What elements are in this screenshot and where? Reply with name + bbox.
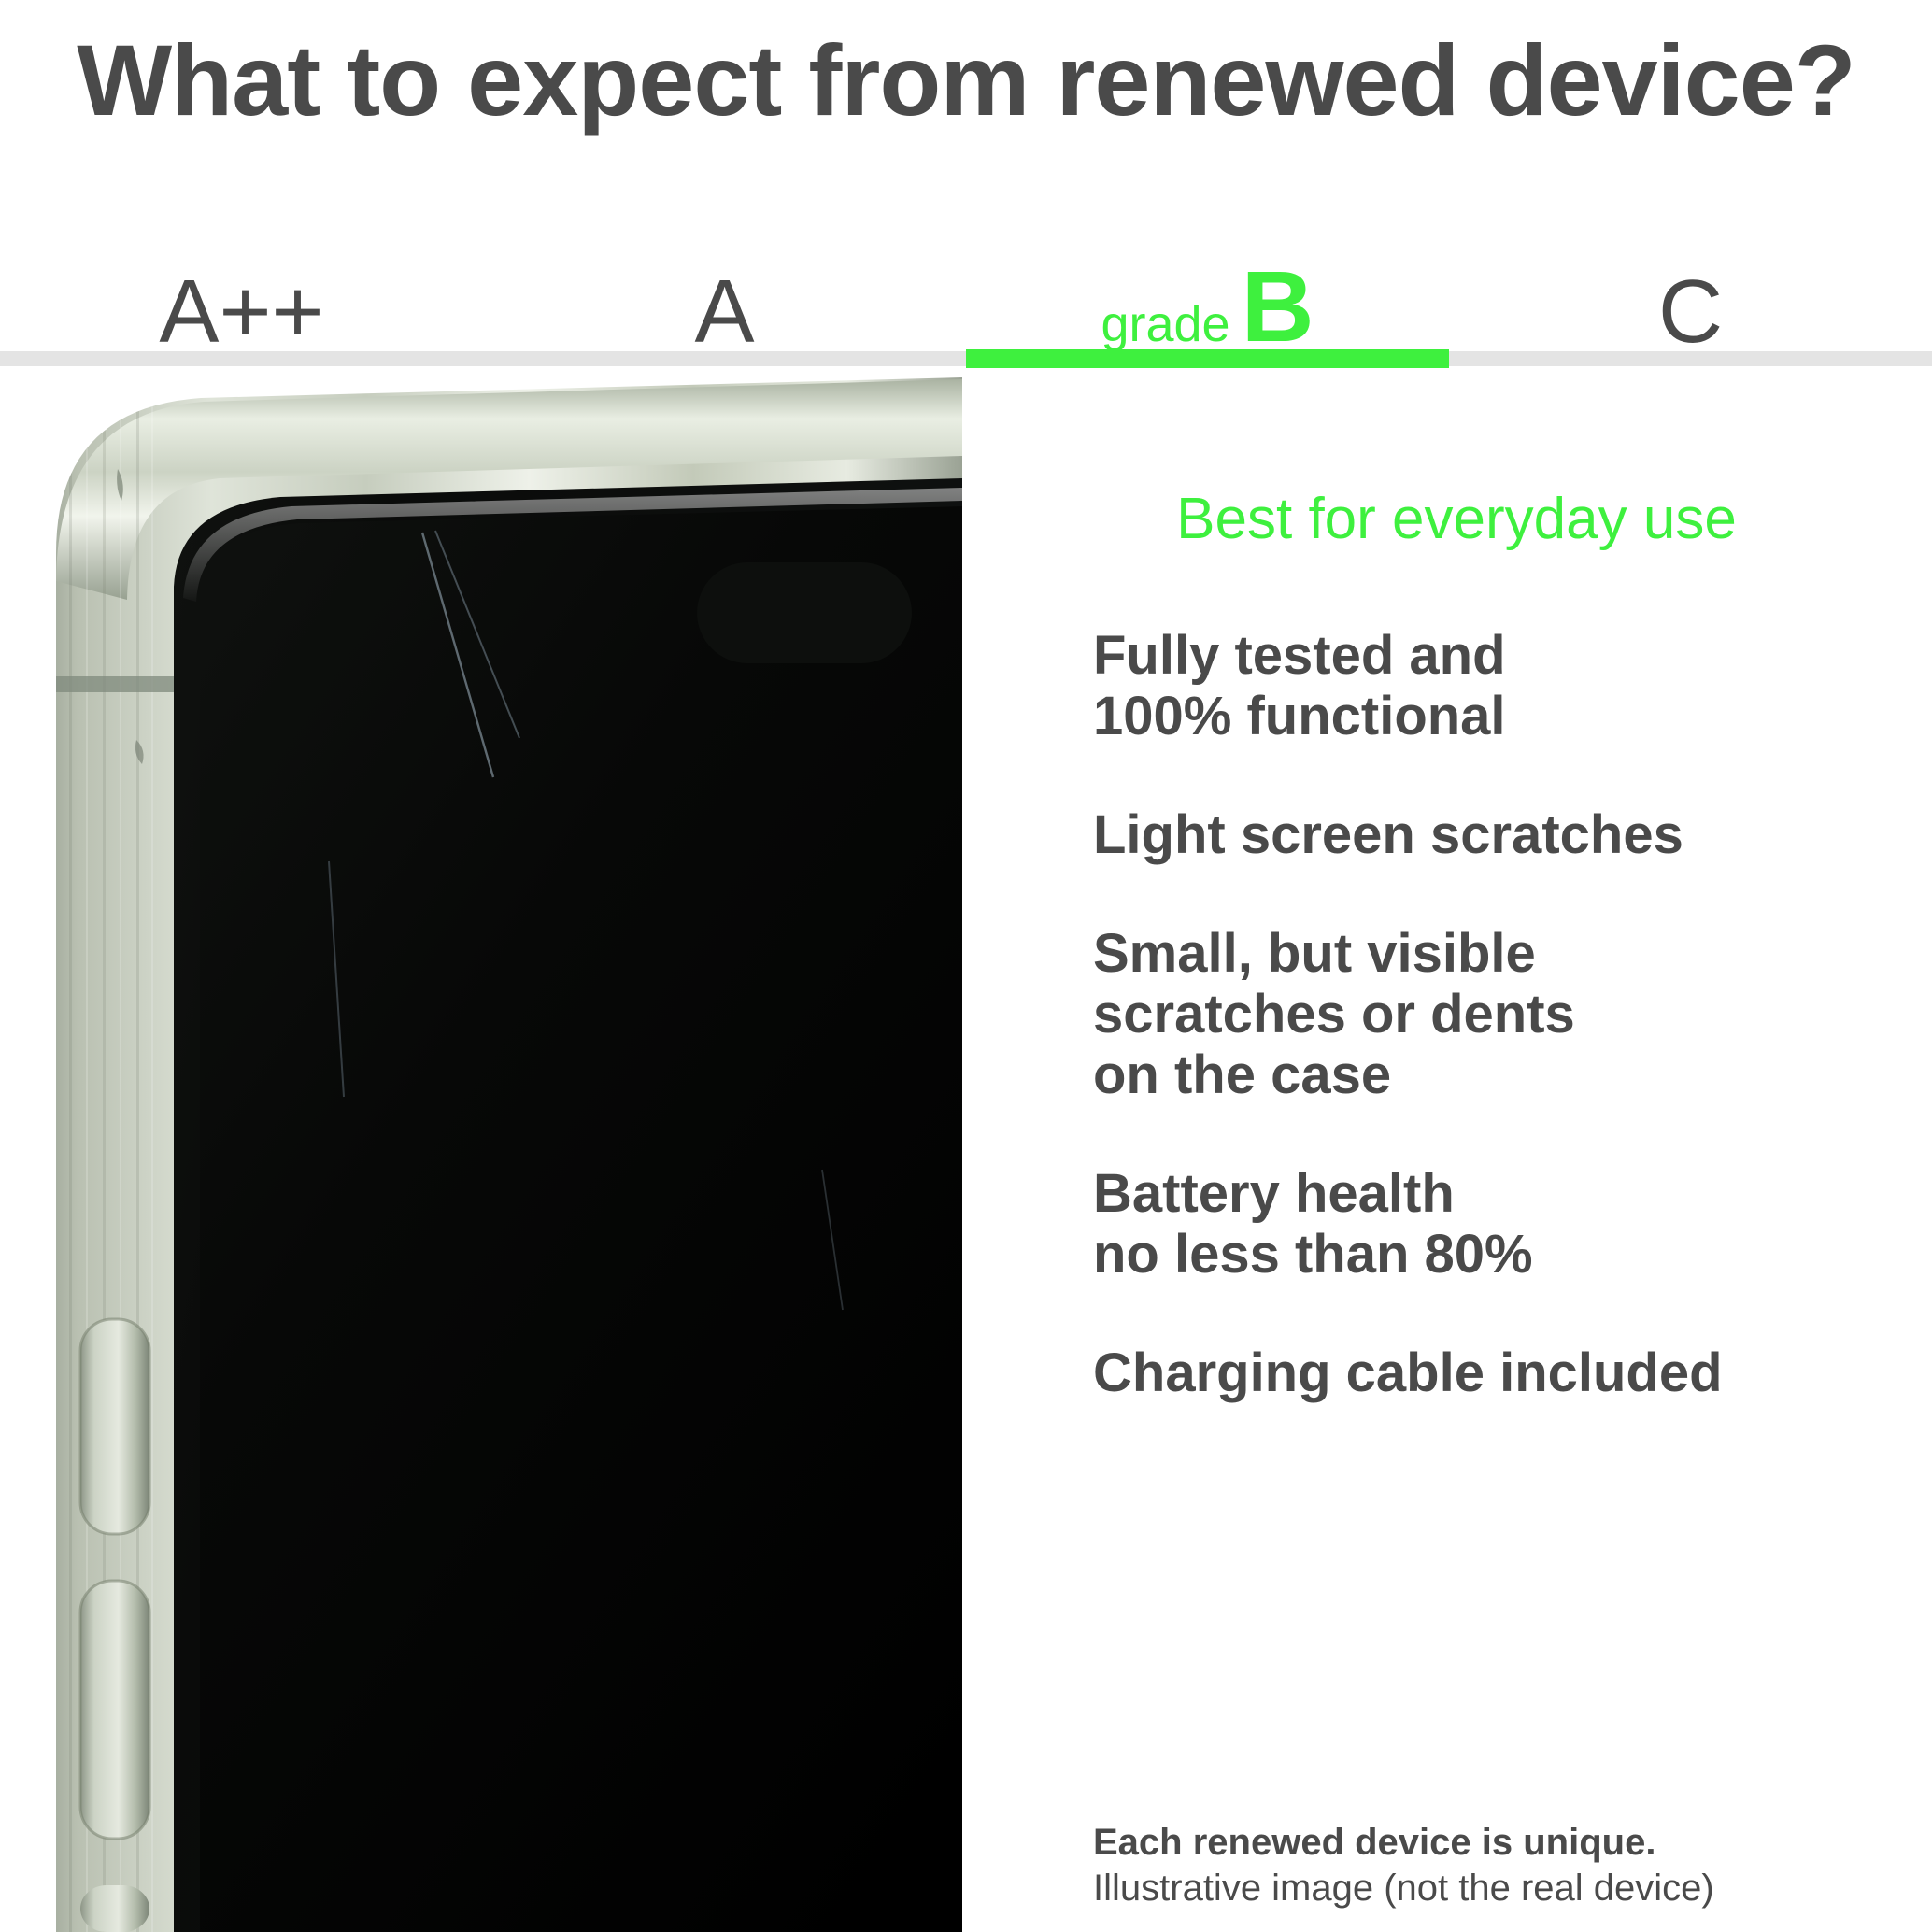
phone-illustration-icon xyxy=(0,366,962,1932)
grade-feature-list: Fully tested and 100% functional Light s… xyxy=(1018,626,1895,1404)
feature-item: Charging cable included xyxy=(1093,1343,1895,1404)
tab-grade-letter-b: B xyxy=(1242,256,1314,357)
volume-up-button-icon xyxy=(80,1319,149,1534)
action-button-icon xyxy=(80,1885,149,1932)
tab-grade-a-plus-plus[interactable]: A++ xyxy=(0,178,483,366)
grade-details-panel: Best for everyday use Fully tested and 1… xyxy=(962,366,1932,1932)
tab-label-a: A xyxy=(694,267,754,357)
feature-item: Fully tested and 100% functional xyxy=(1093,626,1895,747)
renewed-device-grade-panel: What to expect from renewed device? A++ … xyxy=(0,0,1932,1932)
volume-down-button-icon xyxy=(80,1581,149,1839)
grade-headline: Best for everyday use xyxy=(1018,488,1895,551)
feature-item: Light screen scratches xyxy=(1093,805,1895,866)
device-photo xyxy=(0,366,962,1932)
grade-tab-bar: A++ A grade B C xyxy=(0,178,1932,366)
tab-grade-c[interactable]: C xyxy=(1449,178,1932,366)
disclaimer-strong: Each renewed device is unique. xyxy=(1093,1820,1915,1866)
tab-grade-b[interactable]: grade B xyxy=(966,178,1449,366)
tab-label-a-plus-plus: A++ xyxy=(159,267,323,357)
feature-item: Small, but visible scratches or dents on… xyxy=(1093,924,1895,1106)
tab-active-underline xyxy=(966,349,1449,368)
page-title: What to expect from renewed device? xyxy=(0,26,1932,135)
tab-prefix-grade: grade xyxy=(1101,299,1229,349)
disclaimer: Each renewed device is unique. Illustrat… xyxy=(1093,1820,1915,1911)
feature-item: Battery health no less than 80% xyxy=(1093,1164,1895,1286)
tab-grade-a[interactable]: A xyxy=(483,178,966,366)
tab-label-b: grade B xyxy=(1101,256,1314,357)
disclaimer-light: Illustrative image (not the real device) xyxy=(1093,1866,1915,1911)
tab-label-c: C xyxy=(1658,267,1723,357)
